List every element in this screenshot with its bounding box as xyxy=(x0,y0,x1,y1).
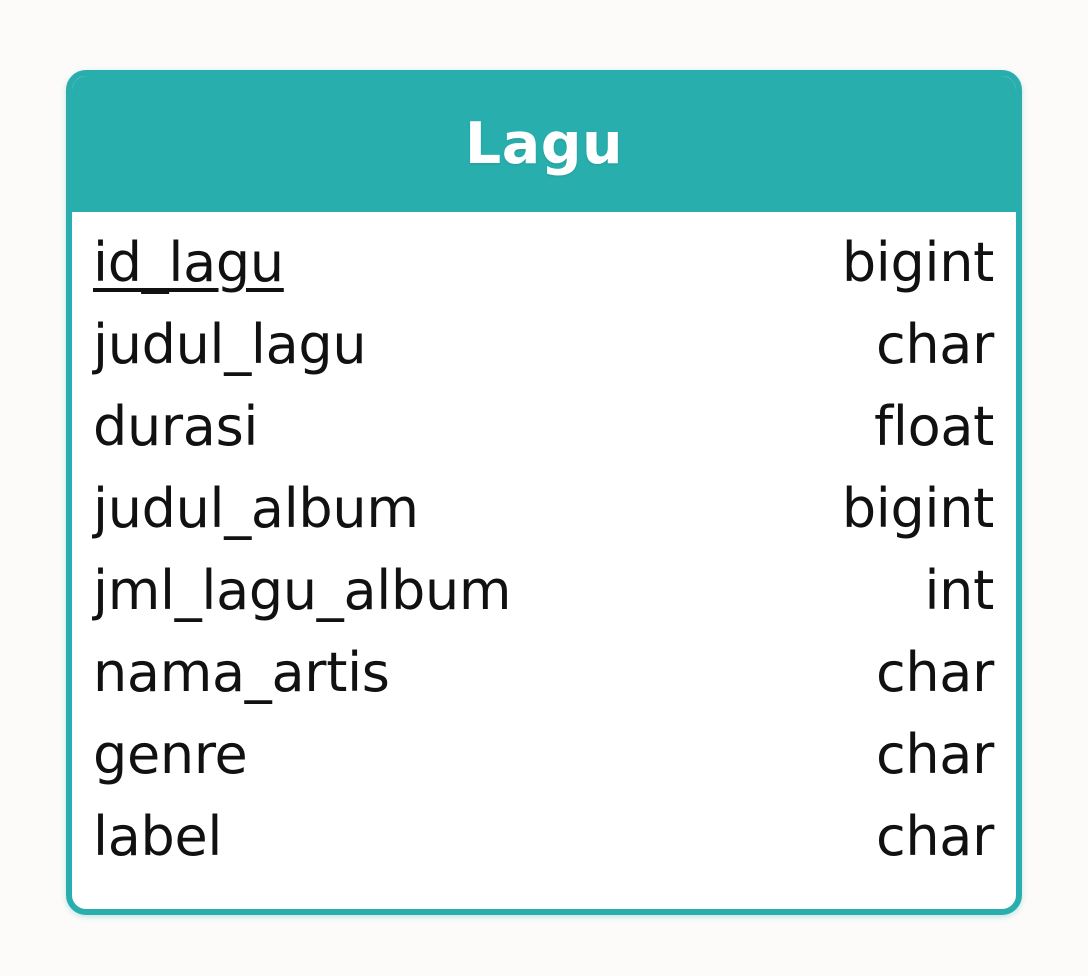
attribute-name: durasi xyxy=(93,400,258,454)
attribute-name: judul_lagu xyxy=(93,318,366,372)
attribute-row[interactable]: genrechar xyxy=(93,728,994,810)
attribute-row[interactable]: id_lagubigint xyxy=(93,236,994,318)
attribute-type: int xyxy=(924,564,994,618)
diagram-canvas: Lagu id_lagubigintjudul_laguchardurasifl… xyxy=(0,0,1088,976)
attribute-row[interactable]: jml_lagu_albumint xyxy=(93,564,994,646)
attribute-name: judul_album xyxy=(93,482,419,536)
attribute-type: bigint xyxy=(842,482,994,536)
attribute-type: bigint xyxy=(842,236,994,290)
attribute-row[interactable]: judul_albumbigint xyxy=(93,482,994,564)
entity-attribute-list: id_lagubigintjudul_laguchardurasifloatju… xyxy=(72,212,1016,910)
attribute-name: id_lagu xyxy=(93,236,284,290)
attribute-type: char xyxy=(876,728,994,782)
attribute-row[interactable]: durasifloat xyxy=(93,400,994,482)
attribute-type: char xyxy=(876,810,994,864)
attribute-name: jml_lagu_album xyxy=(93,564,511,618)
entity-title: Lagu xyxy=(465,116,623,173)
attribute-name: genre xyxy=(93,728,247,782)
attribute-name: label xyxy=(93,810,222,864)
entity-header: Lagu xyxy=(72,76,1016,212)
attribute-type: float xyxy=(874,400,994,454)
attribute-row[interactable]: nama_artischar xyxy=(93,646,994,728)
attribute-type: char xyxy=(876,318,994,372)
attribute-row[interactable]: judul_laguchar xyxy=(93,318,994,400)
entity-card-lagu[interactable]: Lagu id_lagubigintjudul_laguchardurasifl… xyxy=(66,70,1022,915)
attribute-name: nama_artis xyxy=(93,646,390,700)
attribute-type: char xyxy=(876,646,994,700)
attribute-row[interactable]: labelchar xyxy=(93,810,994,892)
